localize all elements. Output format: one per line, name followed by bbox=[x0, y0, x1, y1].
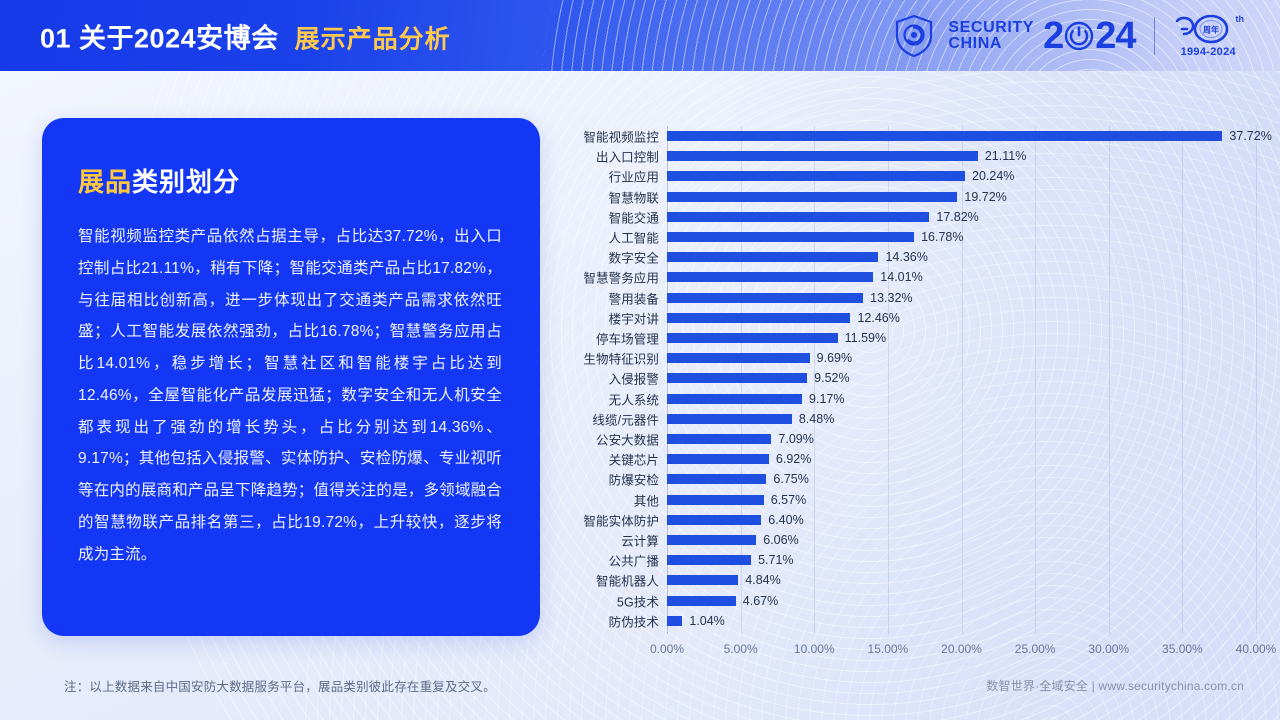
chart-bar-value-label: 6.40% bbox=[768, 513, 803, 527]
y-axis-category-label: 云计算 bbox=[621, 531, 659, 550]
chart-bar-row[interactable]: 智能机器人4.84% bbox=[667, 570, 1256, 590]
chart-bar-row[interactable]: 防爆安检6.75% bbox=[667, 469, 1256, 489]
y-axis-category-label: 楼宇对讲 bbox=[609, 308, 659, 327]
chart-bar-value-label: 12.46% bbox=[857, 311, 899, 325]
power-icon bbox=[1064, 21, 1094, 51]
y-axis-category-label: 智慧物联 bbox=[609, 187, 659, 206]
chart-bar-value-label: 21.11% bbox=[985, 149, 1026, 163]
y-axis-category-label: 公安大数据 bbox=[596, 430, 659, 449]
y-axis-category-label: 行业应用 bbox=[609, 167, 659, 186]
chart-gridline bbox=[1256, 126, 1257, 634]
anniversary-years: 1994-2024 bbox=[1181, 47, 1236, 58]
chart-bar[interactable] bbox=[667, 474, 766, 484]
chart-bar-row[interactable]: 智慧物联19.72% bbox=[667, 187, 1256, 207]
chart-bar-row[interactable]: 5G技术4.67% bbox=[667, 591, 1256, 611]
chart-bar[interactable] bbox=[667, 313, 850, 323]
chart-bar-row[interactable]: 智能交通17.82% bbox=[667, 207, 1256, 227]
chart-bar-value-label: 17.82% bbox=[936, 210, 978, 224]
chart-bar-row[interactable]: 数字安全14.36% bbox=[667, 247, 1256, 267]
chart-bar[interactable] bbox=[667, 414, 792, 424]
chart-bar[interactable] bbox=[667, 495, 764, 505]
chart-bar[interactable] bbox=[667, 454, 769, 464]
chart-bar[interactable] bbox=[667, 212, 929, 222]
y-axis-category-label: 人工智能 bbox=[609, 228, 659, 247]
chart-bar-row[interactable]: 无人系统9.17% bbox=[667, 389, 1256, 409]
brand-year-suffix: 24 bbox=[1095, 17, 1135, 55]
chart-bar-row[interactable]: 公安大数据7.09% bbox=[667, 429, 1256, 449]
brand-logo: SECURITY CHINA 2 24 bbox=[894, 14, 1244, 58]
brand-name: SECURITY CHINA bbox=[948, 20, 1034, 52]
chart-bar-value-label: 37.72% bbox=[1229, 129, 1271, 143]
chart-bar-row[interactable]: 行业应用20.24% bbox=[667, 166, 1256, 186]
chart-bar-value-label: 6.06% bbox=[763, 533, 798, 547]
thirty-icon: 周年 bbox=[1173, 14, 1235, 44]
chart-note: 注：以上数据来自中国安防大数据服务平台，展品类别彼此存在重复及交叉。 bbox=[64, 676, 496, 695]
y-axis-category-label: 智能机器人 bbox=[596, 571, 659, 590]
page-header: 01 关于2024安博会 展示产品分析 SECURITY CHINA 2 bbox=[0, 0, 1280, 71]
chart-bar[interactable] bbox=[667, 171, 965, 181]
chart-bar-value-label: 20.24% bbox=[972, 169, 1014, 183]
chart-bar-value-label: 6.75% bbox=[773, 472, 808, 486]
chart-bar-row[interactable]: 入侵报警9.52% bbox=[667, 368, 1256, 388]
chart-bar-value-label: 4.84% bbox=[745, 573, 780, 587]
chart-bar-value-label: 8.48% bbox=[799, 412, 834, 426]
chart-bar-value-label: 9.69% bbox=[817, 351, 852, 365]
shield-icon bbox=[894, 14, 934, 58]
chart-bar-value-label: 5.71% bbox=[758, 553, 793, 567]
chart-bar[interactable] bbox=[667, 596, 736, 606]
chart-bar-value-label: 9.17% bbox=[809, 392, 844, 406]
chart-bar[interactable] bbox=[667, 232, 914, 242]
chart-bar[interactable] bbox=[667, 555, 751, 565]
x-axis-tick-label: 0.00% bbox=[650, 642, 684, 656]
chart-bar-row[interactable]: 防伪技术1.04% bbox=[667, 611, 1256, 631]
brand-line-china: CHINA bbox=[948, 36, 1034, 52]
y-axis-category-label: 停车场管理 bbox=[596, 329, 659, 348]
card-body-text: 智能视频监控类产品依然占据主导，占比达37.72%，出入口控制占比21.11%，… bbox=[78, 221, 502, 570]
x-axis-tick-label: 20.00% bbox=[941, 642, 982, 656]
chart-bar-value-label: 11.59% bbox=[845, 331, 886, 345]
chart-bar-row[interactable]: 智能视频监控37.72% bbox=[667, 126, 1256, 146]
page-title-sub: 展示产品分析 bbox=[295, 19, 451, 55]
summary-card: 展品类别划分 智能视频监控类产品依然占据主导，占比达37.72%，出入口控制占比… bbox=[42, 118, 540, 636]
card-title: 展品类别划分 bbox=[78, 162, 502, 199]
chart-bar[interactable] bbox=[667, 373, 807, 383]
chart-bar[interactable] bbox=[667, 131, 1222, 141]
y-axis-category-label: 智能实体防护 bbox=[583, 510, 659, 529]
chart-bar-value-label: 4.67% bbox=[743, 594, 778, 608]
y-axis-category-label: 生物特征识别 bbox=[583, 349, 659, 368]
brand-wordmark: SECURITY CHINA 2 24 bbox=[948, 17, 1135, 55]
y-axis-category-label: 线缆/元器件 bbox=[592, 409, 659, 428]
x-axis-tick-label: 40.00% bbox=[1236, 642, 1277, 656]
y-axis-category-label: 5G技术 bbox=[617, 591, 659, 610]
anniversary-cn-glyph: 周年 bbox=[1203, 24, 1219, 34]
chart-bar-row[interactable]: 公共广播5.71% bbox=[667, 550, 1256, 570]
chart-plot-area: 智能视频监控37.72%出入口控制21.11%行业应用20.24%智慧物联19.… bbox=[667, 126, 1256, 634]
chart-bar[interactable] bbox=[667, 616, 682, 626]
chart-bar-value-label: 6.92% bbox=[776, 452, 811, 466]
chart-bar[interactable] bbox=[667, 192, 957, 202]
exhibit-category-bar-chart: 智能视频监控37.72%出入口控制21.11%行业应用20.24%智慧物联19.… bbox=[556, 126, 1256, 666]
chart-bar[interactable] bbox=[667, 434, 771, 444]
y-axis-category-label: 数字安全 bbox=[609, 248, 659, 267]
y-axis-category-label: 入侵报警 bbox=[609, 369, 659, 388]
x-axis-tick-label: 15.00% bbox=[868, 642, 909, 656]
anniversary-logo: 周年 th 1994-2024 bbox=[1173, 14, 1245, 58]
y-axis-category-label: 防伪技术 bbox=[609, 611, 659, 630]
x-axis-tick-label: 35.00% bbox=[1162, 642, 1203, 656]
brand-year-prefix: 2 bbox=[1043, 17, 1063, 55]
x-axis-tick-label: 10.00% bbox=[794, 642, 835, 656]
chart-bar-row[interactable]: 云计算6.06% bbox=[667, 530, 1256, 550]
chart-bar[interactable] bbox=[667, 151, 978, 161]
chart-bar-row[interactable]: 关键芯片6.92% bbox=[667, 449, 1256, 469]
chart-bar-row[interactable]: 出入口控制21.11% bbox=[667, 146, 1256, 166]
chart-bar[interactable] bbox=[667, 353, 810, 363]
y-axis-category-label: 智能交通 bbox=[609, 207, 659, 226]
chart-bar[interactable] bbox=[667, 333, 838, 343]
chart-bar-row[interactable]: 警用装备13.32% bbox=[667, 288, 1256, 308]
y-axis-category-label: 出入口控制 bbox=[596, 147, 659, 166]
chart-bar[interactable] bbox=[667, 575, 738, 585]
chart-bar-value-label: 6.57% bbox=[771, 493, 806, 507]
page-title: 01 关于2024安博会 展示产品分析 bbox=[40, 16, 451, 55]
chart-bar-value-label: 9.52% bbox=[814, 371, 849, 385]
chart-bar-row[interactable]: 智能实体防护6.40% bbox=[667, 510, 1256, 530]
chart-x-axis: 0.00%5.00%10.00%15.00%20.00%25.00%30.00%… bbox=[667, 642, 1256, 660]
chart-bar-row[interactable]: 线缆/元器件8.48% bbox=[667, 409, 1256, 429]
chart-bar-row[interactable]: 生物特征识别9.69% bbox=[667, 348, 1256, 368]
card-title-highlight: 展品 bbox=[78, 167, 132, 197]
chart-bar-value-label: 14.01% bbox=[880, 270, 922, 284]
brand-year: 2 24 bbox=[1043, 17, 1135, 55]
anniversary-top: 周年 th bbox=[1173, 14, 1245, 44]
page-title-main: 01 关于2024安博会 bbox=[40, 16, 279, 55]
chart-bar-row[interactable]: 人工智能16.78% bbox=[667, 227, 1256, 247]
chart-bar-row[interactable]: 智慧警务应用14.01% bbox=[667, 267, 1256, 287]
footer-website: 数智世界·全域安全 | www.securitychina.com.cn bbox=[986, 677, 1244, 694]
y-axis-category-label: 无人系统 bbox=[609, 389, 659, 408]
chart-bar-value-label: 7.09% bbox=[778, 432, 813, 446]
y-axis-category-label: 智能视频监控 bbox=[583, 127, 659, 146]
slide-page: 01 关于2024安博会 展示产品分析 SECURITY CHINA 2 bbox=[0, 0, 1280, 720]
chart-bar[interactable] bbox=[667, 535, 756, 545]
chart-bar-value-label: 14.36% bbox=[885, 250, 927, 264]
y-axis-category-label: 智慧警务应用 bbox=[583, 268, 659, 287]
chart-bar[interactable] bbox=[667, 252, 878, 262]
anniversary-th: th bbox=[1236, 15, 1245, 24]
chart-bar-row[interactable]: 楼宇对讲12.46% bbox=[667, 308, 1256, 328]
card-title-rest: 类别划分 bbox=[132, 167, 240, 197]
x-axis-tick-label: 5.00% bbox=[724, 642, 758, 656]
y-axis-category-label: 关键芯片 bbox=[609, 450, 659, 469]
y-axis-category-label: 其他 bbox=[634, 490, 659, 509]
chart-bar[interactable] bbox=[667, 515, 761, 525]
chart-bar-value-label: 16.78% bbox=[921, 230, 963, 244]
chart-bar-row[interactable]: 其他6.57% bbox=[667, 490, 1256, 510]
chart-bar[interactable] bbox=[667, 272, 873, 282]
x-axis-tick-label: 25.00% bbox=[1015, 642, 1056, 656]
y-axis-category-label: 警用装备 bbox=[609, 288, 659, 307]
chart-bar[interactable] bbox=[667, 394, 802, 404]
x-axis-tick-label: 30.00% bbox=[1088, 642, 1129, 656]
chart-bar-value-label: 1.04% bbox=[689, 614, 724, 628]
y-axis-category-label: 防爆安检 bbox=[609, 470, 659, 489]
brand-divider bbox=[1154, 17, 1155, 55]
chart-bar-row[interactable]: 停车场管理11.59% bbox=[667, 328, 1256, 348]
chart-bar-value-label: 19.72% bbox=[964, 190, 1006, 204]
y-axis-category-label: 公共广播 bbox=[609, 551, 659, 570]
brand-line-security: SECURITY bbox=[948, 20, 1034, 36]
chart-bar[interactable] bbox=[667, 293, 863, 303]
chart-bar-value-label: 13.32% bbox=[870, 291, 912, 305]
